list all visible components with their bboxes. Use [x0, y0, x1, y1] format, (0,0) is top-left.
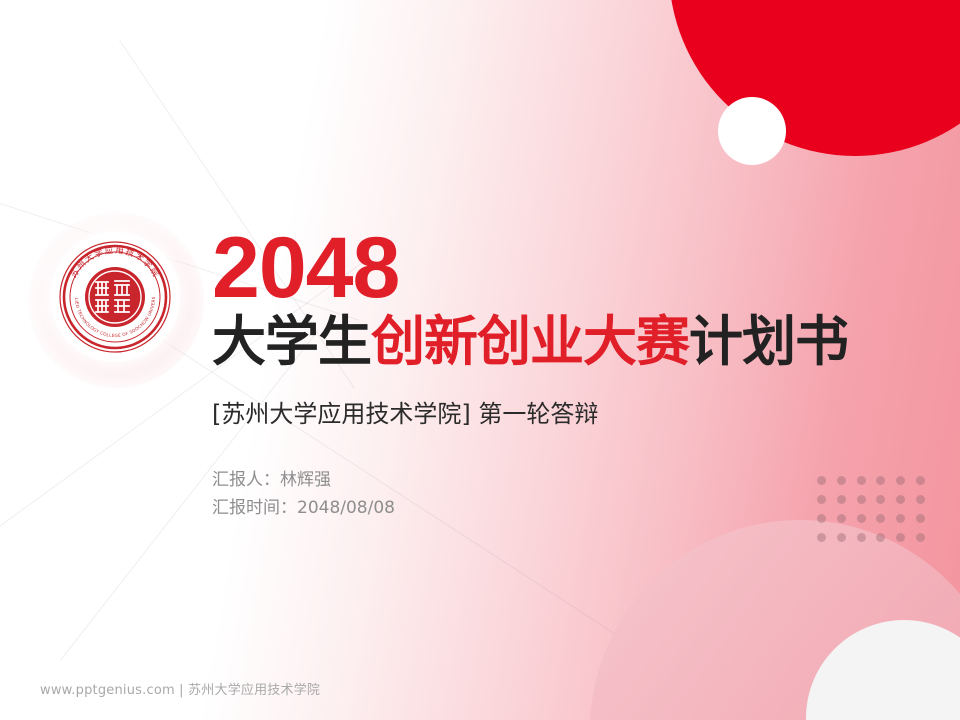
headline-part-1: 大学生: [212, 310, 371, 373]
title-text-block: 2048 大学生创新创业大赛计划书 [苏州大学应用技术学院] 第一轮答辩 汇报人…: [212, 226, 912, 522]
presentation-slide: 苏州大学应用技术学院 APPLIED TECHNOLOGY COLLEGE OF…: [0, 0, 960, 720]
headline-part-3: 计划书: [689, 310, 848, 373]
grid-dot: [896, 533, 905, 542]
grid-dot: [916, 533, 925, 542]
university-seal: 苏州大学应用技术学院 APPLIED TECHNOLOGY COLLEGE OF…: [28, 212, 204, 388]
seal-emblem-icon: 苏州大学应用技术学院 APPLIED TECHNOLOGY COLLEGE OF…: [58, 240, 172, 354]
presenter-line: 汇报人：林辉强: [212, 466, 912, 494]
grid-dot: [916, 514, 925, 523]
date-line: 汇报时间：2048/08/08: [212, 494, 912, 522]
grid-dot: [916, 476, 925, 485]
footer-text: www.pptgenius.com | 苏州大学应用技术学院: [40, 679, 320, 698]
year-heading: 2048: [212, 226, 912, 310]
grid-dot: [916, 495, 925, 504]
meta-block: 汇报人：林辉强 汇报时间：2048/08/08: [212, 466, 912, 522]
grid-dot: [837, 533, 846, 542]
headline-part-2: 创新创业大赛: [371, 310, 689, 373]
headline: 大学生创新创业大赛计划书: [212, 312, 912, 372]
subtitle: [苏州大学应用技术学院] 第一轮答辩: [212, 399, 912, 430]
grid-dot: [876, 533, 885, 542]
white-dot-decoration: [718, 97, 786, 165]
grid-dot: [817, 533, 826, 542]
grid-dot: [857, 533, 866, 542]
red-circle-decoration: [669, 0, 960, 156]
